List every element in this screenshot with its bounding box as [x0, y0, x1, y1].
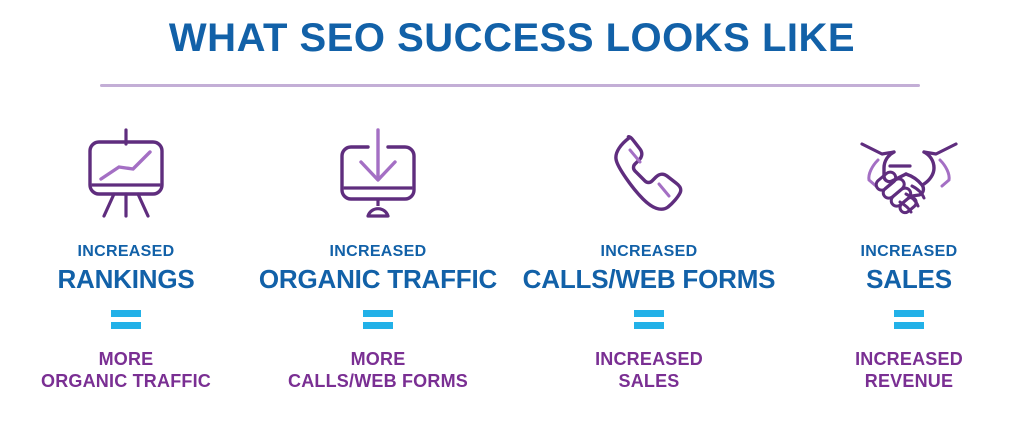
- outcome-block: MORE CALLS/WEB FORMS: [288, 349, 468, 393]
- outcome-line: REVENUE: [855, 371, 963, 393]
- header-divider: [100, 84, 920, 87]
- handshake-icon: [854, 128, 964, 220]
- small-label: INCREASED: [57, 244, 194, 260]
- small-label: INCREASED: [523, 244, 776, 260]
- big-label: RANKINGS: [57, 266, 194, 292]
- outcome-line: INCREASED: [595, 349, 703, 371]
- outcome-line: MORE: [41, 349, 211, 371]
- monitor-download-icon: [330, 128, 426, 220]
- column-organic-traffic: INCREASED ORGANIC TRAFFIC MORE CALLS/WEB…: [252, 128, 504, 428]
- big-label: ORGANIC TRAFFIC: [259, 266, 497, 292]
- equals-icon: [894, 310, 924, 329]
- outcome-line: ORGANIC TRAFFIC: [41, 371, 211, 393]
- outcome-block: INCREASED REVENUE: [855, 349, 963, 393]
- easel-chart-icon: [78, 128, 174, 220]
- outcome-line: MORE: [288, 349, 468, 371]
- column-calls-web-forms: INCREASED CALLS/WEB FORMS INCREASED SALE…: [504, 128, 794, 428]
- small-label: INCREASED: [259, 244, 497, 260]
- page-title: WHAT SEO SUCCESS LOOKS LIKE: [0, 14, 1024, 62]
- outcome-line: SALES: [595, 371, 703, 393]
- outcome-block: MORE ORGANIC TRAFFIC: [41, 349, 211, 393]
- result-block: INCREASED ORGANIC TRAFFIC: [259, 244, 497, 292]
- small-label: INCREASED: [861, 244, 958, 260]
- header: WHAT SEO SUCCESS LOOKS LIKE: [0, 14, 1024, 62]
- outcome-line: INCREASED: [855, 349, 963, 371]
- column-rankings: INCREASED RANKINGS MORE ORGANIC TRAFFIC: [0, 128, 252, 428]
- result-block: INCREASED SALES: [861, 244, 958, 292]
- column-sales: INCREASED SALES INCREASED REVENUE: [794, 128, 1024, 428]
- equals-icon: [634, 310, 664, 329]
- outcome-line: CALLS/WEB FORMS: [288, 371, 468, 393]
- equals-icon: [363, 310, 393, 329]
- seo-success-infographic: WHAT SEO SUCCESS LOOKS LIKE INCREASED RA…: [0, 0, 1024, 439]
- equals-icon: [111, 310, 141, 329]
- phone-handset-icon: [599, 128, 699, 220]
- big-label: SALES: [861, 266, 958, 292]
- columns-row: INCREASED RANKINGS MORE ORGANIC TRAFFIC: [0, 128, 1024, 428]
- result-block: INCREASED CALLS/WEB FORMS: [523, 244, 776, 292]
- result-block: INCREASED RANKINGS: [57, 244, 194, 292]
- outcome-block: INCREASED SALES: [595, 349, 703, 393]
- big-label: CALLS/WEB FORMS: [523, 266, 776, 292]
